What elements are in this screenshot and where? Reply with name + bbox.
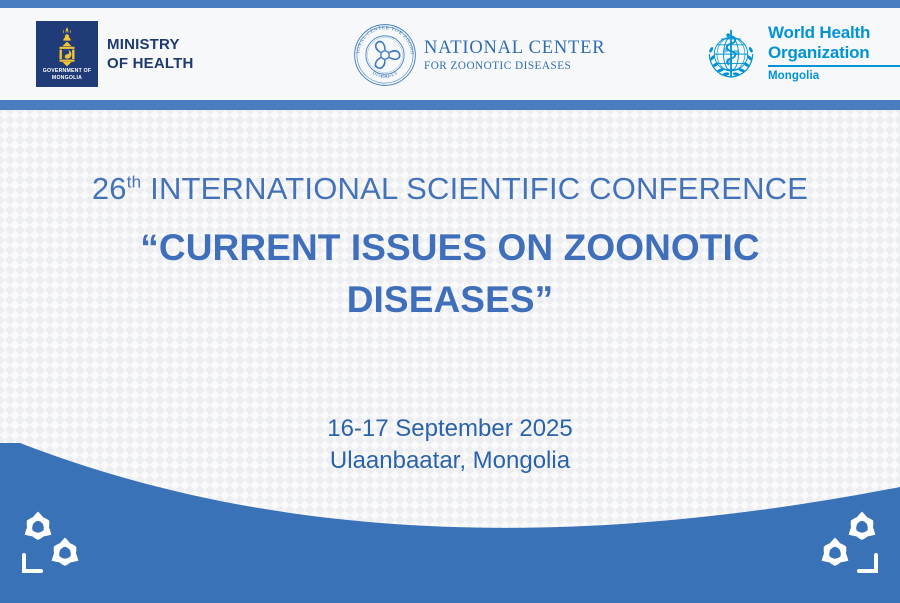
emblem-caption: GOVERNMENT OF MONGOLIA xyxy=(36,68,98,82)
triquetra-knot-ornament-left xyxy=(8,503,100,585)
national-center-logo: NATIONAL CENTER FOR ZOONOTIC DISEASES xyxy=(352,22,605,88)
ministry-of-health-name: MINISTRY OF HEALTH xyxy=(107,35,194,73)
logo-row: GOVERNMENT OF MONGOLIA MINISTRY OF HEALT… xyxy=(0,8,900,100)
conference-heading-text: INTERNATIONAL SCIENTIFIC CONFERENCE xyxy=(141,171,808,206)
national-center-wordmark: NATIONAL CENTER FOR ZOONOTIC DISEASES xyxy=(424,38,605,73)
ministry-of-health-logo: GOVERNMENT OF MONGOLIA MINISTRY OF HEALT… xyxy=(36,21,194,87)
conference-title-slide: GOVERNMENT OF MONGOLIA MINISTRY OF HEALT… xyxy=(0,0,900,603)
who-country-office: Mongolia xyxy=(768,70,900,82)
who-name: World Health Organization xyxy=(768,23,900,62)
title-block: 26th INTERNATIONAL SCIENTIFIC CONFERENCE… xyxy=(0,168,900,326)
conference-number: 26 xyxy=(92,171,127,206)
national-center-line1: NATIONAL CENTER xyxy=(424,38,605,59)
top-accent-bar xyxy=(0,0,900,8)
emblem-caption-line1: GOVERNMENT OF xyxy=(36,68,98,75)
zoonotic-seal-icon: NATIONAL CENTER FOR ZOONOTIC DISEASES xyxy=(352,22,418,88)
conference-ordinal: th xyxy=(127,173,142,192)
soyombo-icon xyxy=(51,26,83,70)
conference-heading: 26th INTERNATIONAL SCIENTIFIC CONFERENCE xyxy=(0,168,900,210)
who-logo: World Health Organization Mongolia xyxy=(700,23,900,87)
event-date: 16-17 September 2025 xyxy=(0,413,900,445)
conference-theme: “CURRENT ISSUES ON ZOONOTIC DISEASES” xyxy=(0,222,900,326)
national-center-line2: FOR ZOONOTIC DISEASES xyxy=(424,59,605,73)
svg-text:NATIONAL CENTER FOR ZOONOTIC: NATIONAL CENTER FOR ZOONOTIC xyxy=(352,22,414,55)
header-divider-bar xyxy=(0,100,900,110)
emblem-caption-line2: MONGOLIA xyxy=(36,75,98,82)
who-wordmark: World Health Organization Mongolia xyxy=(768,23,900,82)
who-emblem-icon xyxy=(700,25,762,87)
bottom-wave-decoration xyxy=(0,443,900,603)
seal-year: 1931 xyxy=(380,74,390,79)
who-underline xyxy=(768,65,900,67)
government-of-mongolia-emblem: GOVERNMENT OF MONGOLIA xyxy=(36,21,98,87)
triquetra-knot-ornament-right xyxy=(800,503,892,585)
